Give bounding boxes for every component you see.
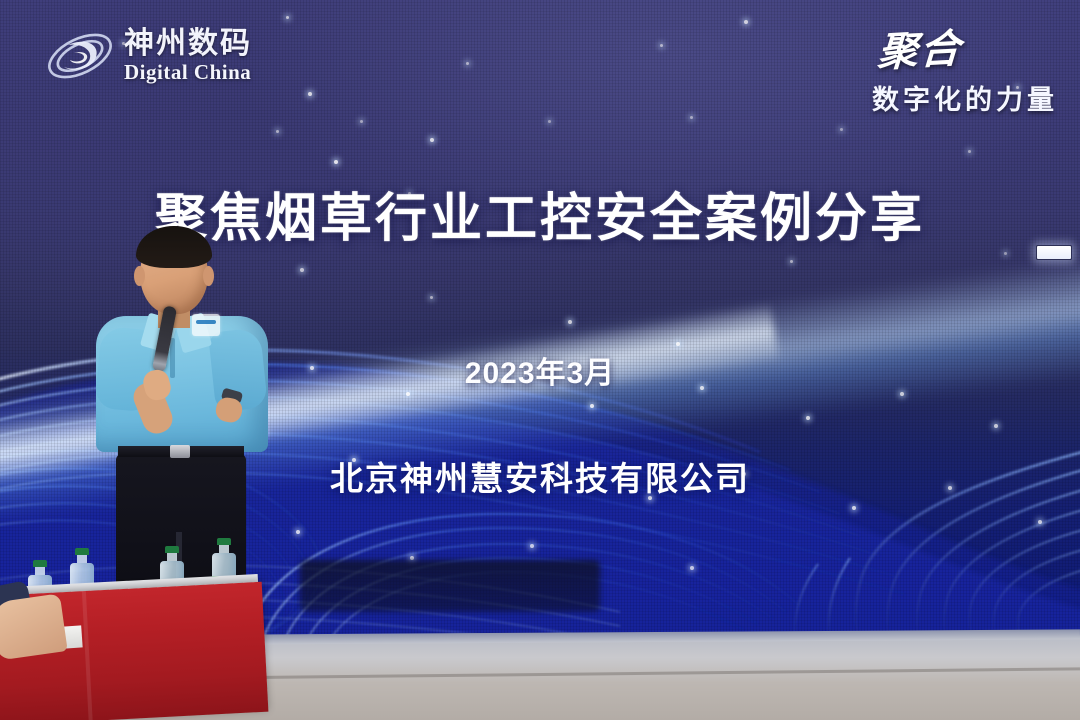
- bottle-cap: [217, 538, 231, 545]
- bottle-cap: [75, 548, 89, 555]
- screenshot-root: 神州数码 Digital China 聚合 数字化的力量 聚焦烟草行业工控安全案…: [0, 0, 1080, 720]
- digital-china-wordmark: 神州数码 Digital China: [124, 29, 252, 83]
- presenter-belt-buckle: [170, 445, 190, 458]
- bottle-cap: [33, 560, 47, 567]
- event-calligraphy: 聚合: [876, 16, 963, 78]
- digital-china-swirl-icon: [44, 25, 116, 87]
- background-seating-shadow: [300, 560, 600, 612]
- bottle-neck: [219, 545, 229, 553]
- brand-name-en: Digital China: [124, 62, 252, 83]
- digital-china-logo: 神州数码 Digital China: [44, 18, 304, 94]
- presenter-shirt-placket: [170, 338, 175, 378]
- event-logo: 聚合 数字化的力量: [790, 18, 1058, 110]
- bottle-neck: [77, 555, 87, 563]
- bottle-neck: [167, 553, 177, 561]
- brand-name-cn: 神州数码: [124, 29, 252, 59]
- wall-light-fixture: [1036, 245, 1072, 260]
- presenter-hair: [136, 226, 212, 268]
- bottle-cap: [165, 546, 179, 553]
- bottle-neck: [35, 567, 45, 575]
- presenter-chest-logo: [192, 314, 220, 336]
- presenter-ear-left: [134, 266, 145, 286]
- presenter-ear-right: [203, 266, 214, 286]
- event-tagline: 数字化的力量: [872, 78, 1058, 117]
- attendee-hands: [0, 593, 68, 660]
